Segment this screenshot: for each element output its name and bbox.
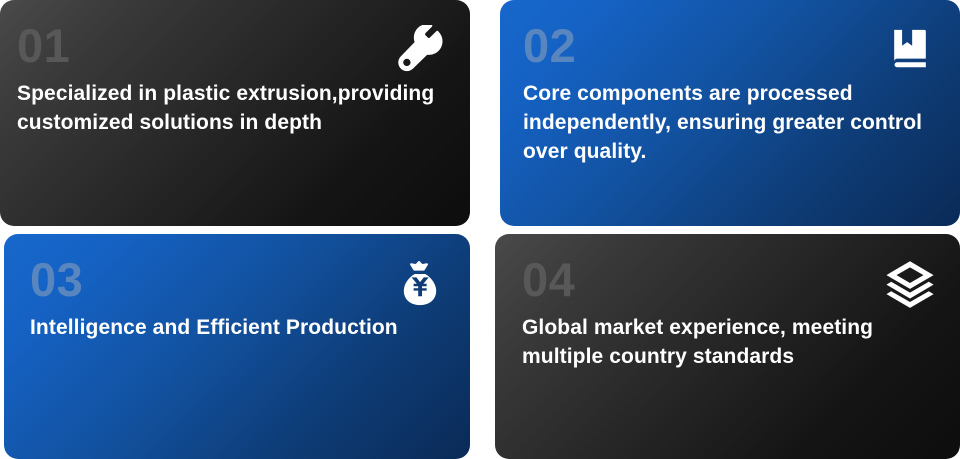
feature-card-03[interactable]: 03 Intelligence and Efficient Production bbox=[4, 234, 470, 459]
card-number-01: 01 bbox=[17, 22, 444, 69]
card-number-04: 04 bbox=[522, 256, 934, 303]
feature-card-grid: 01 Specialized in plastic extrusion,prov… bbox=[0, 0, 960, 459]
feature-card-04[interactable]: 04 Global market experience, meeting mul… bbox=[495, 234, 960, 459]
card-text-04: Global market experience, meeting multip… bbox=[522, 313, 934, 371]
feature-card-02[interactable]: 02 Core components are processed indepen… bbox=[500, 0, 960, 226]
card-number-03: 03 bbox=[30, 256, 444, 303]
card-text-01: Specialized in plastic extrusion,providi… bbox=[17, 79, 444, 137]
card-text-02: Core components are processed independen… bbox=[523, 79, 934, 166]
card-text-03: Intelligence and Efficient Production bbox=[30, 313, 444, 342]
feature-card-01[interactable]: 01 Specialized in plastic extrusion,prov… bbox=[0, 0, 470, 226]
card-number-02: 02 bbox=[523, 22, 934, 69]
